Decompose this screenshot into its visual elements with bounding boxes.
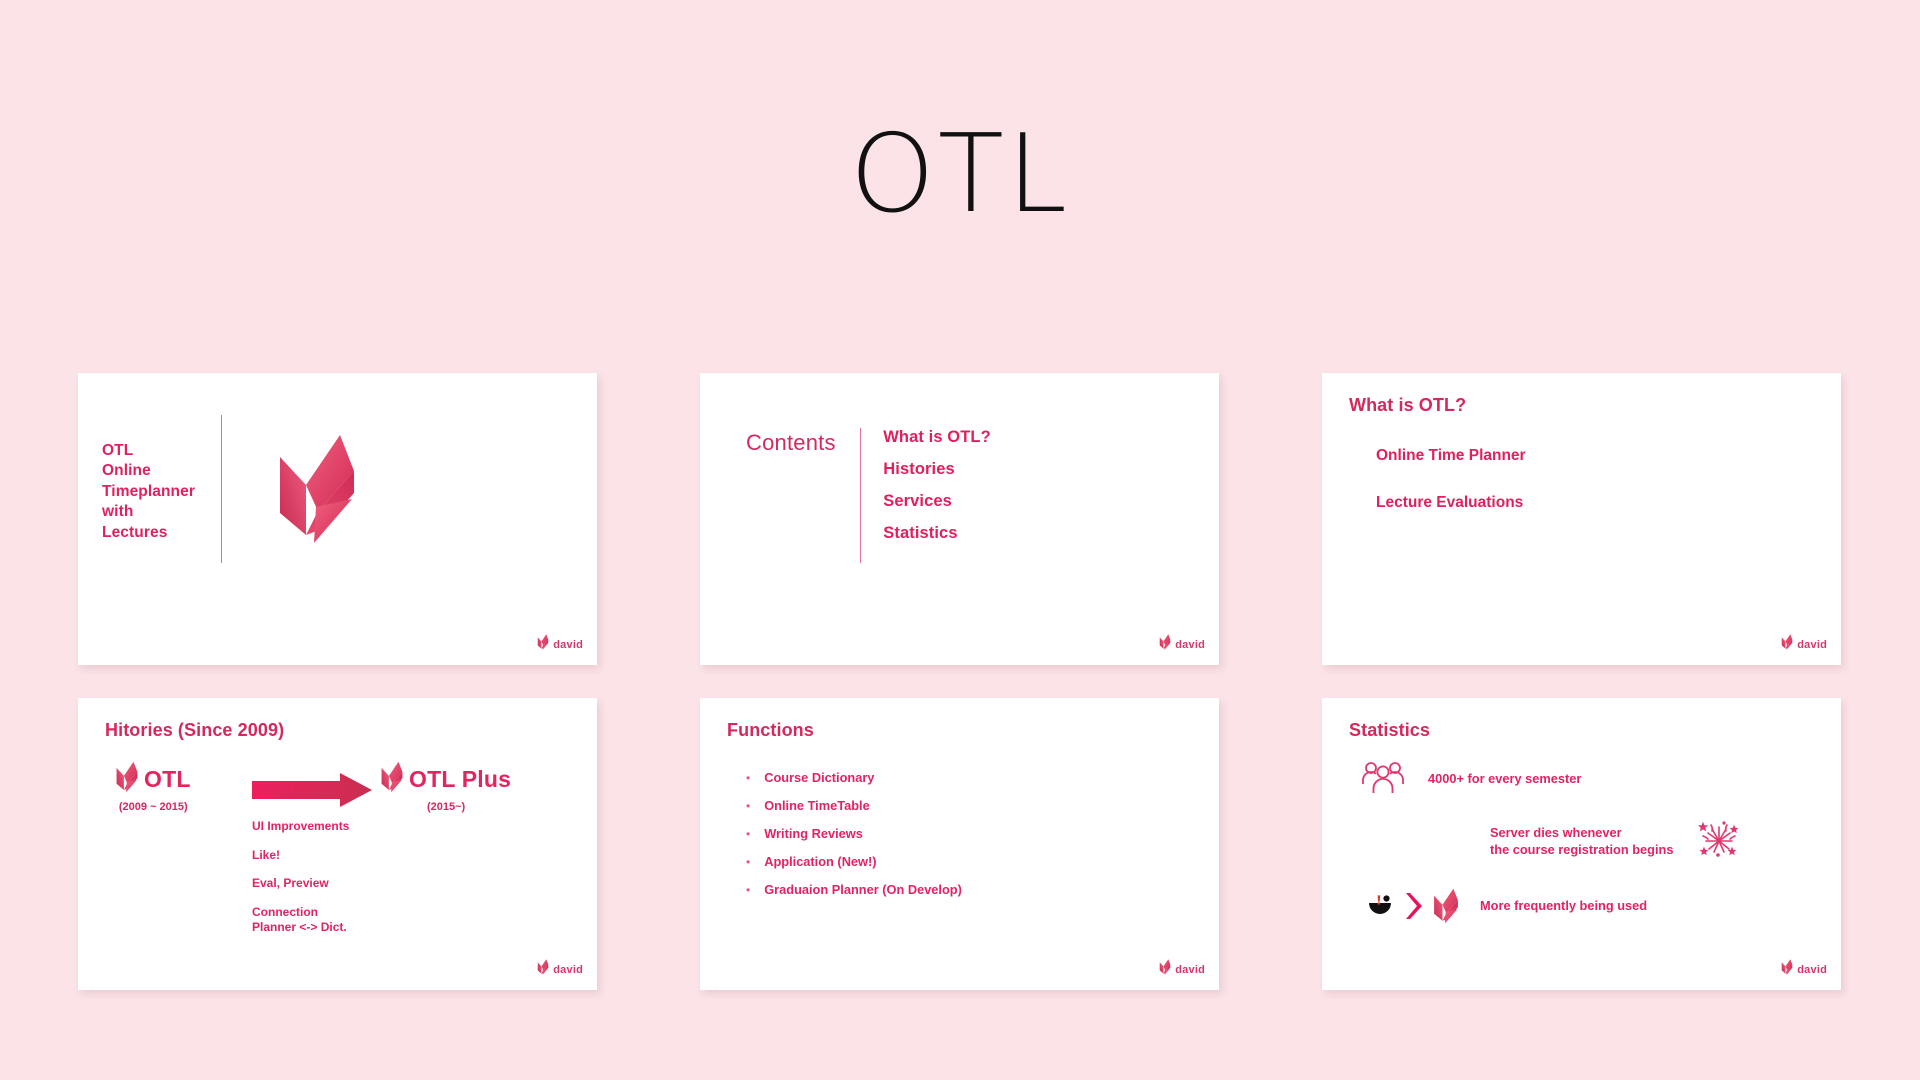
slide-heading: Hitories (Since 2009): [105, 720, 284, 741]
otl-bolt-icon: [537, 959, 549, 980]
statistic-label: 4000+ for every semester: [1428, 771, 1581, 788]
slide-heading: What is OTL?: [1349, 395, 1466, 416]
otl-bolt-icon: [1781, 634, 1793, 655]
bullet-icon: •: [746, 884, 750, 896]
otl-bolt-icon: [537, 634, 549, 655]
list-item-label: Application (New!): [764, 854, 876, 869]
list-item[interactable]: Statistics: [883, 524, 991, 543]
list-item[interactable]: Histories: [883, 460, 991, 479]
note-item: Eval, Preview: [252, 876, 349, 891]
histories-notes: UI Improvements Like! Eval, Preview Conn…: [252, 819, 349, 934]
list-item: • Course Dictionary: [746, 770, 962, 785]
group-of-people-icon: [1360, 760, 1406, 799]
otl-bolt-logo-icon: [278, 433, 356, 550]
footer-author-name: david: [1175, 639, 1205, 651]
footer-badge: david: [1159, 634, 1205, 655]
slide-functions[interactable]: Functions • Course Dictionary • Online T…: [700, 698, 1219, 990]
right-arrow-icon: [252, 773, 372, 812]
otl-bolt-icon: [381, 761, 403, 798]
slide-cover[interactable]: OTL Online Timeplanner with Lectures: [78, 373, 597, 665]
list-item[interactable]: What is OTL?: [883, 428, 991, 447]
slide-heading: Functions: [727, 720, 814, 741]
list-item: Lecture Evaluations: [1376, 494, 1526, 512]
otl-bolt-icon: [1781, 959, 1793, 980]
list-item: • Online TimeTable: [746, 798, 962, 813]
firework-icon: [1698, 820, 1740, 863]
histories-left-brand: OTL (2009 ~ 2015): [116, 761, 191, 813]
bullet-icon: •: [746, 828, 750, 840]
brand-years: (2009 ~ 2015): [119, 801, 188, 813]
functions-list: • Course Dictionary • Online TimeTable •…: [746, 770, 962, 897]
otl-bolt-icon: [1433, 888, 1459, 924]
note-item: Connection Planner <-> Dict.: [252, 905, 349, 934]
otl-bolt-icon: [1159, 634, 1171, 655]
cover-text-block: OTL Online Timeplanner with Lectures: [102, 415, 221, 563]
bullet-icon: •: [746, 772, 750, 784]
slide-histories[interactable]: Hitories (Since 2009): [78, 698, 597, 990]
footer-author-name: david: [1175, 964, 1205, 976]
list-item[interactable]: Services: [883, 492, 991, 511]
statistic-row-usage: More frequently being used: [1365, 888, 1647, 924]
slide-deck-overview: OTL OTL Online Timeplanner with Lecture: [0, 0, 1920, 1080]
contents-list: What is OTL? Histories Services Statisti…: [861, 428, 991, 563]
footer-badge: david: [1159, 959, 1205, 980]
footer-badge: david: [1781, 959, 1827, 980]
list-item: • Writing Reviews: [746, 826, 962, 841]
statistic-label: Server dies whenever the course registra…: [1490, 825, 1673, 859]
footer-badge: david: [537, 959, 583, 980]
list-item-label: Course Dictionary: [764, 770, 874, 785]
brand-name: OTL: [144, 766, 191, 793]
slide-row-1: OTL Online Timeplanner with Lectures: [78, 373, 1842, 665]
footer-author-name: david: [553, 639, 583, 651]
slide-statistics[interactable]: Statistics 4000+ for every semester: [1322, 698, 1841, 990]
slide-what-is-otl[interactable]: What is OTL? Online Time Planner Lecture…: [1322, 373, 1841, 665]
slide-heading: Statistics: [1349, 720, 1430, 741]
contents-label: Contents: [746, 428, 860, 563]
what-is-otl-list: Online Time Planner Lecture Evaluations: [1376, 447, 1526, 512]
page-title: OTL: [0, 118, 1920, 231]
footer-author-name: david: [1797, 964, 1827, 976]
otl-bolt-icon: [1159, 959, 1171, 980]
footer-author-name: david: [553, 964, 583, 976]
brand-years: (2015~): [427, 801, 465, 813]
list-item: • Graduaion Planner (On Develop): [746, 882, 962, 897]
list-item-label: Graduaion Planner (On Develop): [764, 882, 962, 897]
cover-content: OTL Online Timeplanner with Lectures: [102, 415, 356, 563]
otl-bolt-icon: [116, 761, 138, 798]
statistic-row-server: Server dies whenever the course registra…: [1490, 820, 1740, 863]
histories-right-brand: OTL Plus (2015~): [381, 761, 511, 813]
note-item: UI Improvements: [252, 819, 349, 834]
contents-content: Contents What is OTL? Histories Services…: [746, 428, 991, 563]
bullet-icon: •: [746, 800, 750, 812]
slide-row-2: Hitories (Since 2009): [78, 698, 1842, 990]
list-item-label: Writing Reviews: [764, 826, 863, 841]
statistic-row-users: 4000+ for every semester: [1360, 760, 1581, 799]
footer-badge: david: [537, 634, 583, 655]
note-item: Like!: [252, 848, 349, 863]
list-item-label: Online TimeTable: [764, 798, 869, 813]
chevron-right-icon: [1403, 892, 1425, 920]
cover-divider: [221, 415, 222, 563]
footer-author-name: david: [1797, 639, 1827, 651]
list-item: Online Time Planner: [1376, 447, 1526, 465]
brand-name: OTL Plus: [409, 766, 511, 793]
slide-contents[interactable]: Contents What is OTL? Histories Services…: [700, 373, 1219, 665]
statistic-label: More frequently being used: [1480, 898, 1647, 915]
smiley-icon: [1365, 892, 1395, 920]
slide-grid: OTL Online Timeplanner with Lectures: [78, 373, 1842, 990]
bullet-icon: •: [746, 856, 750, 868]
smiley-to-bolt-icon: [1365, 888, 1459, 924]
footer-badge: david: [1781, 634, 1827, 655]
list-item: • Application (New!): [746, 854, 962, 869]
